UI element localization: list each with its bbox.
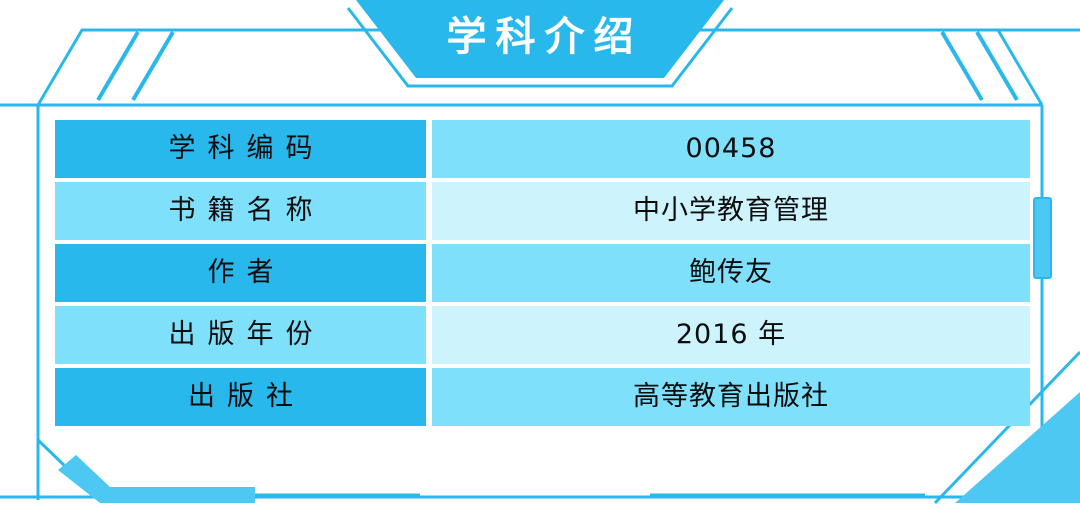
row-value: 中小学教育管理 bbox=[432, 182, 1030, 240]
table-row: 出版社 高等教育出版社 bbox=[55, 368, 1030, 426]
table-row: 书籍名称 中小学教育管理 bbox=[55, 182, 1030, 240]
table-row: 出版年份 2016 年 bbox=[55, 306, 1030, 364]
row-value: 鲍传友 bbox=[432, 244, 1030, 302]
table-row: 作者 鲍传友 bbox=[55, 244, 1030, 302]
row-label: 作者 bbox=[55, 244, 426, 302]
page-title: 学科介绍 bbox=[0, 8, 1080, 66]
row-value: 高等教育出版社 bbox=[432, 368, 1030, 426]
table-row: 学科编码 00458 bbox=[55, 120, 1030, 178]
subject-info-table: 学科编码 00458 书籍名称 中小学教育管理 作者 鲍传友 出版年份 2016… bbox=[55, 120, 1030, 426]
row-value: 2016 年 bbox=[432, 306, 1030, 364]
row-label: 书籍名称 bbox=[55, 182, 426, 240]
subject-intro-card: 学科介绍 学科编码 00458 书籍名称 中小学教育管理 作者 鲍传友 出版年份… bbox=[0, 0, 1080, 505]
row-label: 学科编码 bbox=[55, 120, 426, 178]
row-value: 00458 bbox=[432, 120, 1030, 178]
row-label: 出版年份 bbox=[55, 306, 426, 364]
row-label: 出版社 bbox=[55, 368, 426, 426]
